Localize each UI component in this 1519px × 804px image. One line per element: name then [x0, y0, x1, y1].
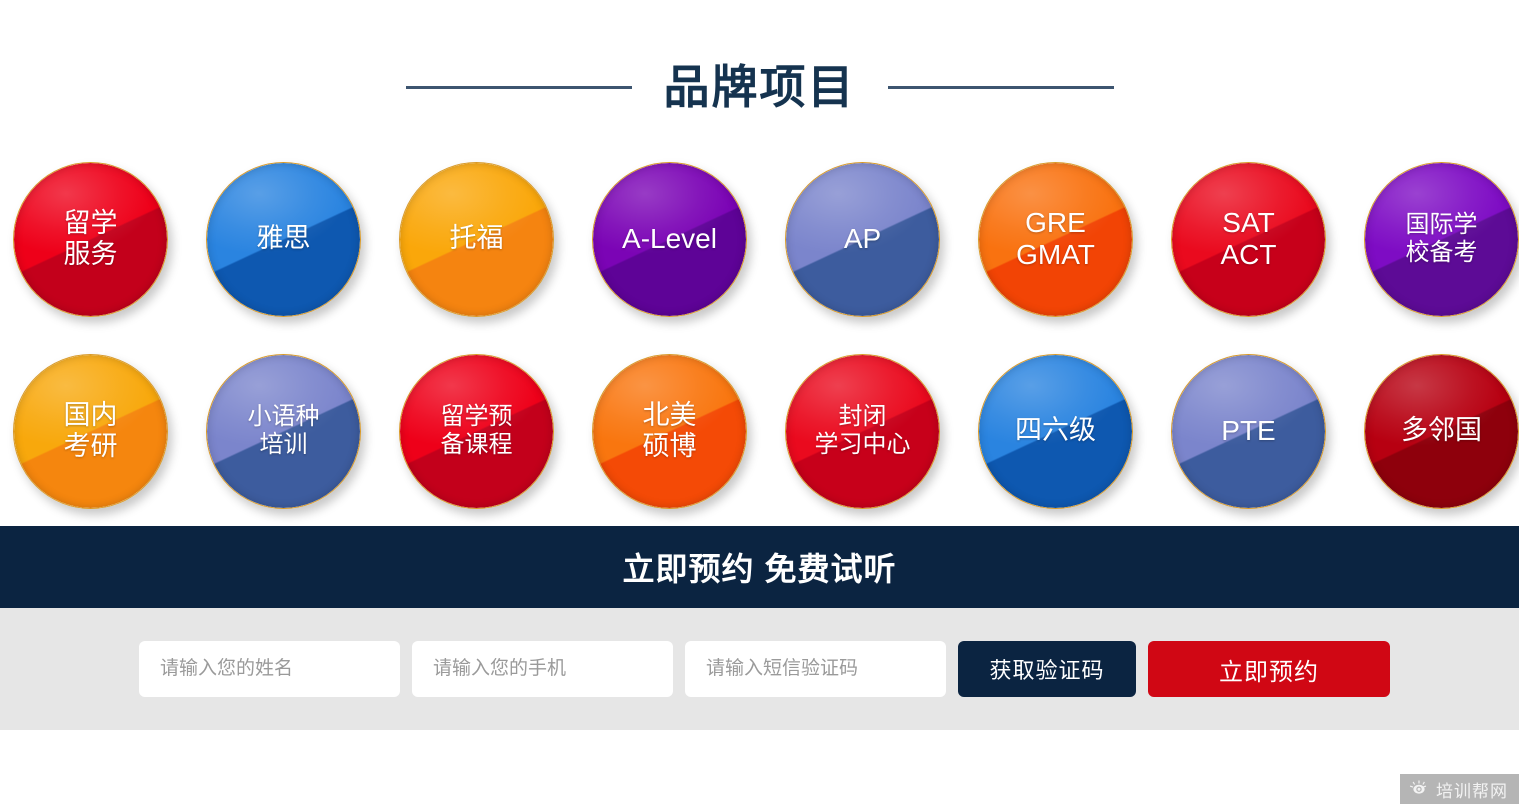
- program-badge-label: 封闭 学习中心: [809, 403, 917, 458]
- program-badge-label: 留学 服务: [58, 208, 124, 270]
- program-cell: GRE GMAT: [959, 162, 1152, 317]
- booking-form: 获取验证码 立即预约: [0, 608, 1519, 730]
- program-badge-label: 小语种 培训: [242, 403, 326, 458]
- booking-banner: 立即预约 免费试听: [0, 526, 1519, 608]
- program-badge[interactable]: GRE GMAT: [978, 162, 1133, 317]
- program-badge[interactable]: PTE: [1171, 354, 1326, 509]
- sun-eye-icon: [1409, 779, 1429, 799]
- program-cell: 国际学 校备考: [1345, 162, 1519, 317]
- program-badge-label: SAT ACT: [1215, 207, 1283, 271]
- program-cell: PTE: [1152, 354, 1345, 509]
- sms-code-input[interactable]: [685, 641, 946, 697]
- program-badge-label: 四六级: [1009, 415, 1102, 446]
- booking-banner-title: 立即预约 免费试听: [623, 544, 897, 590]
- program-cell: A-Level: [573, 162, 766, 317]
- program-cell: 留学预 备课程: [380, 354, 573, 509]
- program-row-2: 国内 考研小语种 培训留学预 备课程北美 硕博封闭 学习中心四六级PTE多邻国: [0, 336, 1519, 526]
- program-cell: 小语种 培训: [187, 354, 380, 509]
- get-verification-code-button[interactable]: 获取验证码: [958, 641, 1136, 697]
- program-badge-label: 国内 考研: [58, 400, 124, 462]
- program-badge[interactable]: A-Level: [592, 162, 747, 317]
- program-badge-label: GRE GMAT: [1010, 207, 1101, 271]
- page-title: 品牌项目: [664, 64, 856, 110]
- watermark-label: 培训帮网: [1436, 777, 1508, 802]
- program-cell: AP: [766, 162, 959, 317]
- program-cell: 雅思: [187, 162, 380, 317]
- book-now-button[interactable]: 立即预约: [1148, 641, 1390, 697]
- program-badge[interactable]: 留学 服务: [13, 162, 168, 317]
- program-cell: 国内 考研: [0, 354, 187, 509]
- program-badge[interactable]: 雅思: [206, 162, 361, 317]
- program-cell: 多邻国: [1345, 354, 1519, 509]
- program-badge-label: 北美 硕博: [637, 400, 703, 462]
- section-heading: 品牌项目: [0, 0, 1519, 160]
- program-badge[interactable]: 国际学 校备考: [1364, 162, 1519, 317]
- program-badge[interactable]: 小语种 培训: [206, 354, 361, 509]
- program-badge-label: PTE: [1215, 415, 1281, 447]
- program-badge[interactable]: 国内 考研: [13, 354, 168, 509]
- program-badge[interactable]: AP: [785, 162, 940, 317]
- program-badge[interactable]: 留学预 备课程: [399, 354, 554, 509]
- program-badge[interactable]: 封闭 学习中心: [785, 354, 940, 509]
- program-badge[interactable]: 四六级: [978, 354, 1133, 509]
- program-badge[interactable]: 托福: [399, 162, 554, 317]
- program-cell: SAT ACT: [1152, 162, 1345, 317]
- program-cell: 四六级: [959, 354, 1152, 509]
- program-badge-label: 雅思: [251, 223, 317, 254]
- program-badge[interactable]: 北美 硕博: [592, 354, 747, 509]
- site-watermark: 培训帮网: [1400, 774, 1519, 804]
- program-grid: 留学 服务雅思托福A-LevelAPGRE GMATSAT ACT国际学 校备考…: [0, 144, 1519, 526]
- program-badge-label: 留学预 备课程: [435, 403, 519, 458]
- program-cell: 托福: [380, 162, 573, 317]
- program-row-1: 留学 服务雅思托福A-LevelAPGRE GMATSAT ACT国际学 校备考: [0, 144, 1519, 334]
- program-badge-label: AP: [838, 223, 887, 255]
- program-badge-label: A-Level: [616, 223, 723, 255]
- heading-rule-left: [406, 86, 632, 89]
- name-input[interactable]: [139, 641, 400, 697]
- program-cell: 北美 硕博: [573, 354, 766, 509]
- phone-input[interactable]: [412, 641, 673, 697]
- program-badge-label: 国际学 校备考: [1400, 211, 1484, 266]
- program-cell: 封闭 学习中心: [766, 354, 959, 509]
- program-badge-label: 托福: [444, 223, 510, 254]
- program-badge-label: 多邻国: [1395, 415, 1488, 446]
- program-badge[interactable]: SAT ACT: [1171, 162, 1326, 317]
- heading-rule-right: [888, 86, 1114, 89]
- program-badge[interactable]: 多邻国: [1364, 354, 1519, 509]
- program-cell: 留学 服务: [0, 162, 187, 317]
